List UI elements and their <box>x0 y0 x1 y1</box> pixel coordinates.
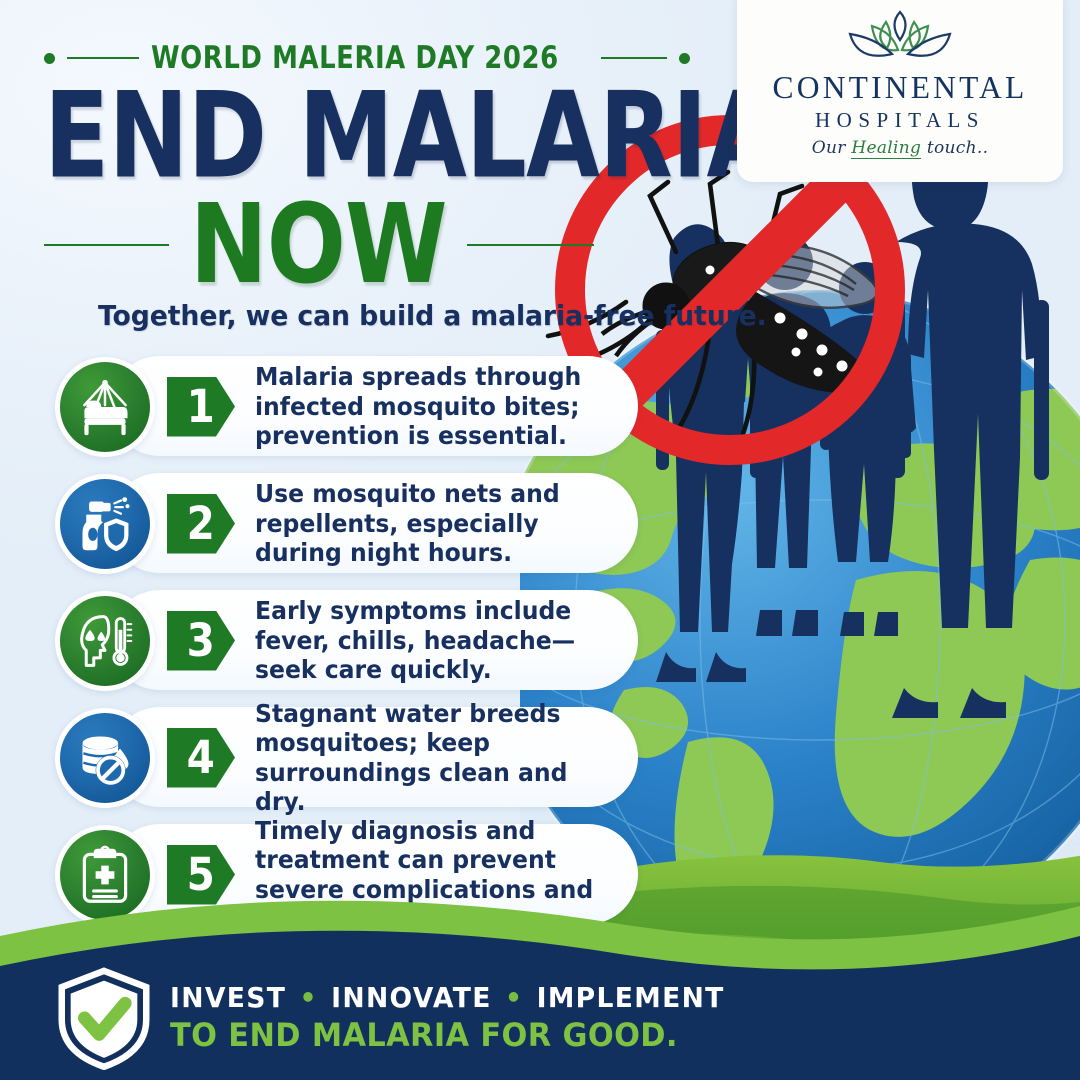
now-rule-left <box>44 244 169 247</box>
tip-badge <box>55 591 155 691</box>
lotus-logo-icon <box>840 8 960 64</box>
brand-logo-card: CONTINENTAL HOSPITALS Our Healing touch.… <box>737 0 1063 182</box>
logo-tagline: Our Healing touch.. <box>812 138 989 158</box>
tip-number: 1 <box>187 384 215 429</box>
footer-bar: INVEST•INNOVATE•IMPLEMENT TO END MALARIA… <box>0 955 1080 1080</box>
list-item: 3 Early symptoms include fever, chills, … <box>55 586 655 695</box>
footer-slogan-line1: INVEST•INNOVATE•IMPLEMENT <box>170 981 725 1014</box>
tip-text: Early symptoms include fever, chills, he… <box>255 596 610 684</box>
footer-word-implement: IMPLEMENT <box>537 981 725 1014</box>
shield-check-icon <box>52 966 156 1070</box>
tip-badge <box>55 474 155 574</box>
eyebrow-rule-left <box>67 57 139 60</box>
tip-number: 4 <box>187 735 215 780</box>
eyebrow-rule-right <box>601 57 667 60</box>
list-item: 1 Malaria spreads through infected mosqu… <box>55 352 655 461</box>
now-rule-right <box>467 244 594 247</box>
poster-root: CONTINENTAL HOSPITALS Our Healing touch.… <box>0 0 1080 1080</box>
tip-text: Malaria spreads through infected mosquit… <box>255 362 610 450</box>
logo-title: CONTINENTAL <box>773 70 1028 106</box>
bed-net-icon <box>75 377 135 437</box>
tip-text: Stagnant water breeds mosquitoes; keep s… <box>255 699 610 817</box>
list-item: 2 Use mosquito nets and repellents, espe… <box>55 469 655 578</box>
tip-badge <box>55 708 155 808</box>
no-water-icon <box>75 728 135 788</box>
fever-head-icon <box>75 611 135 671</box>
page-subtitle: Together, we can build a malaria-free fu… <box>98 300 767 332</box>
eyebrow-dot-left <box>44 53 55 64</box>
eyebrow-dot-right <box>679 53 690 64</box>
footer-slogan-line2: TO END MALARIA FOR GOOD. <box>170 1016 725 1054</box>
footer-word-invest: INVEST <box>170 981 286 1014</box>
spray-shield-icon <box>75 494 135 554</box>
page-title-secondary: NOW <box>190 190 447 300</box>
page-title-primary: END MALARIA <box>44 76 780 195</box>
list-item: 4 Stagnant water breeds mosquitoes; keep… <box>55 703 655 812</box>
tips-list: 1 Malaria spreads through infected mosqu… <box>55 352 655 937</box>
footer-text-group: INVEST•INNOVATE•IMPLEMENT TO END MALARIA… <box>170 981 754 1054</box>
logo-subtitle: HOSPITALS <box>815 108 985 133</box>
tip-number: 2 <box>187 501 215 546</box>
tip-badge <box>55 357 155 457</box>
tip-number: 3 <box>187 618 215 663</box>
footer-separator: • <box>300 981 318 1014</box>
footer-word-innovate: INNOVATE <box>331 981 492 1014</box>
page-title-secondary-row: NOW <box>44 195 709 295</box>
tip-text: Use mosquito nets and repellents, especi… <box>255 479 610 567</box>
footer-separator: • <box>505 981 523 1014</box>
